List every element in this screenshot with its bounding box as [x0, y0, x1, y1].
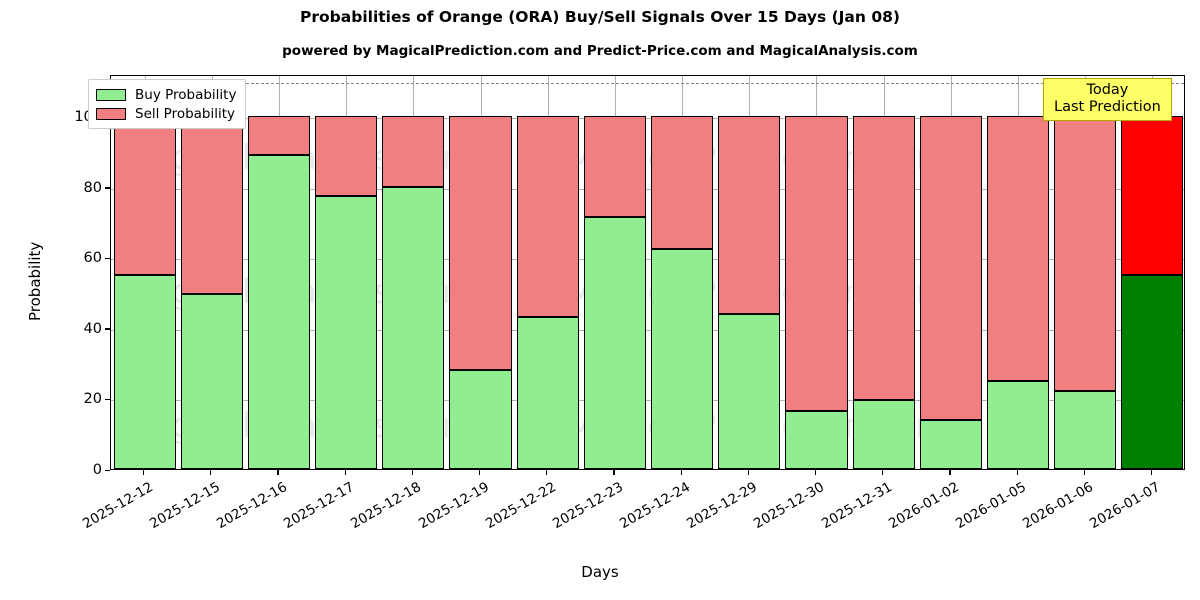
x-tick-mark [412, 470, 413, 475]
bar-segment-buy[interactable] [181, 294, 243, 469]
bar-segment-sell[interactable] [248, 116, 310, 155]
y-tick-mark [105, 470, 110, 471]
x-tick-mark [345, 470, 346, 475]
bar-group[interactable] [449, 75, 511, 469]
today-label-line2: Last Prediction [1054, 99, 1161, 116]
bar-segment-sell[interactable] [718, 116, 780, 314]
bar-group[interactable] [987, 75, 1049, 469]
bar-segment-buy[interactable] [785, 411, 847, 469]
bar-segment-sell[interactable] [114, 116, 176, 275]
y-tick-label: 80 [56, 180, 102, 196]
bar-group[interactable] [1054, 75, 1116, 469]
x-tick-mark [479, 470, 480, 475]
chart-subtitle: powered by MagicalPrediction.com and Pre… [0, 43, 1200, 59]
bar-segment-buy[interactable] [651, 249, 713, 469]
today-label-line1: Today [1054, 82, 1161, 99]
bar-segment-buy[interactable] [382, 187, 444, 469]
x-axis-label: Days [0, 563, 1200, 581]
bar-segment-buy[interactable] [853, 400, 915, 469]
y-tick-mark [105, 328, 110, 329]
bar-segment-sell[interactable] [584, 116, 646, 217]
x-tick-mark [613, 470, 614, 475]
bar-segment-buy[interactable] [584, 217, 646, 469]
bar-group[interactable] [584, 75, 646, 469]
bar-group[interactable] [785, 75, 847, 469]
x-tick-mark [277, 470, 278, 475]
bar-group[interactable] [920, 75, 982, 469]
bar-group-today[interactable] [1121, 75, 1183, 469]
bar-segment-sell[interactable] [920, 116, 982, 419]
y-tick-mark [105, 258, 110, 259]
y-tick-label: 20 [56, 391, 102, 407]
bar-group[interactable] [382, 75, 444, 469]
bar-segment-buy[interactable] [1121, 275, 1183, 469]
legend-item-buy[interactable]: Buy Probability [96, 85, 236, 104]
x-tick-mark [1151, 470, 1152, 475]
plot-area: MagicalAnalysis.comMagicalPrediction.com… [110, 75, 1185, 470]
y-tick-mark [105, 399, 110, 400]
legend-label-sell: Sell Probability [135, 106, 235, 122]
x-tick-mark [949, 470, 950, 475]
bar-segment-buy[interactable] [987, 381, 1049, 469]
bar-group[interactable] [718, 75, 780, 469]
bar-segment-sell[interactable] [382, 116, 444, 187]
bar-segment-buy[interactable] [920, 420, 982, 469]
x-tick-mark [143, 470, 144, 475]
y-axis-label: Probability [26, 241, 44, 320]
x-tick-mark [748, 470, 749, 475]
bar-group[interactable] [853, 75, 915, 469]
bar-group[interactable] [517, 75, 579, 469]
bar-group[interactable] [114, 75, 176, 469]
bar-segment-sell[interactable] [1054, 116, 1116, 391]
y-tick-label: 60 [56, 250, 102, 266]
x-tick-mark [681, 470, 682, 475]
legend-swatch-sell [96, 108, 126, 120]
bar-segment-sell[interactable] [517, 116, 579, 317]
x-tick-mark [815, 470, 816, 475]
bar-segment-sell[interactable] [651, 116, 713, 248]
x-tick-mark [546, 470, 547, 475]
bar-segment-buy[interactable] [1054, 391, 1116, 469]
bar-segment-buy[interactable] [248, 155, 310, 469]
x-tick-mark [1084, 470, 1085, 475]
chart-title: Probabilities of Orange (ORA) Buy/Sell S… [0, 8, 1200, 26]
legend-item-sell[interactable]: Sell Probability [96, 104, 236, 123]
bar-segment-sell[interactable] [785, 116, 847, 410]
bar-segment-buy[interactable] [517, 317, 579, 469]
x-tick-mark [1017, 470, 1018, 475]
bar-segment-buy[interactable] [114, 275, 176, 469]
chart-figure: Probabilities of Orange (ORA) Buy/Sell S… [0, 0, 1200, 600]
today-annotation: Today Last Prediction [1043, 78, 1172, 121]
y-tick-label: 0 [56, 462, 102, 478]
bar-segment-sell[interactable] [449, 116, 511, 370]
bar-group[interactable] [315, 75, 377, 469]
bar-group[interactable] [181, 75, 243, 469]
bar-group[interactable] [248, 75, 310, 469]
x-tick-mark [210, 470, 211, 475]
bar-segment-sell[interactable] [853, 116, 915, 400]
chart-legend[interactable]: Buy Probability Sell Probability [88, 79, 246, 129]
bar-segment-sell[interactable] [315, 116, 377, 195]
y-tick-mark [105, 187, 110, 188]
bar-segment-sell[interactable] [1121, 116, 1183, 275]
bar-segment-buy[interactable] [315, 196, 377, 469]
bar-segment-sell[interactable] [181, 116, 243, 294]
legend-label-buy: Buy Probability [135, 87, 236, 103]
x-tick-mark [882, 470, 883, 475]
bar-segment-buy[interactable] [449, 370, 511, 469]
bar-group[interactable] [651, 75, 713, 469]
bar-segment-sell[interactable] [987, 116, 1049, 381]
y-tick-label: 40 [56, 321, 102, 337]
legend-swatch-buy [96, 89, 126, 101]
bar-segment-buy[interactable] [718, 314, 780, 469]
